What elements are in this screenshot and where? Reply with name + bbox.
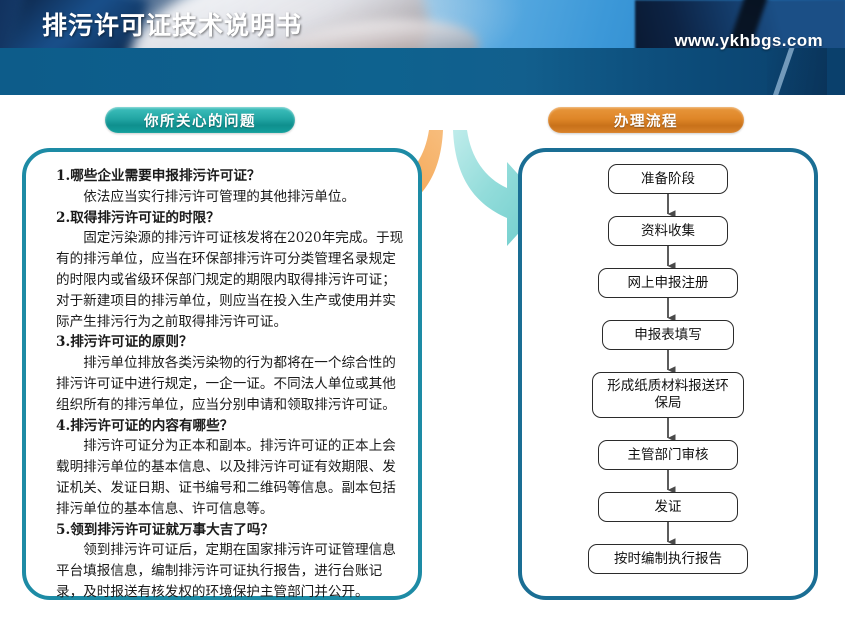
answer-1: 依法应当实行排污许可管理的其他排污单位。 [56, 187, 406, 208]
questions-body: 1.哪些企业需要申报排污许可证？ 依法应当实行排污许可管理的其他排污单位。 2.… [56, 166, 406, 603]
flow-step-2-label: 资料收集 [641, 223, 695, 240]
section-header-process: 办理流程 [548, 107, 744, 133]
flowchart: 准备阶段 资料收集 网上申报注册 申报表填写 形成纸质材料报送环保局 主管部门审… [522, 152, 814, 596]
flow-step-7-label: 发证 [655, 499, 682, 516]
flow-step-5[interactable]: 形成纸质材料报送环保局 [592, 372, 744, 418]
flow-step-4[interactable]: 申报表填写 [602, 320, 734, 350]
title-bar [0, 48, 845, 95]
answer-3: 排污单位排放各类污染物的行为都将在一个综合性的排污许可证中进行规定，一企一证。不… [56, 353, 406, 415]
answer-4: 排污许可证分为正本和副本。排污许可证的正本上会载明排污单位的基本信息、以及排污许… [56, 436, 406, 519]
flow-step-1-label: 准备阶段 [641, 171, 695, 188]
flow-step-5-label: 形成纸质材料报送环保局 [601, 378, 735, 412]
section-header-questions: 你所关心的问题 [105, 107, 295, 133]
question-4: 4.排污许可证的内容有哪些？ [56, 416, 406, 437]
flow-step-6[interactable]: 主管部门审核 [598, 440, 738, 470]
flow-step-6-label: 主管部门审核 [628, 447, 709, 464]
question-5: 5.领到排污许可证就万事大吉了吗？ [56, 520, 406, 541]
answer-2: 固定污染源的排污许可证核发将在2020年完成。于现有的排污单位，应当在环保部排污… [56, 228, 406, 332]
flow-step-4-label: 申报表填写 [634, 327, 702, 344]
question-2: 2.取得排污许可证的时限？ [56, 208, 406, 229]
page-title: 排污许可证技术说明书 [42, 6, 302, 42]
site-url-text: www.ykhbgs.com [674, 31, 823, 51]
process-flow-panel: 准备阶段 资料收集 网上申报注册 申报表填写 形成纸质材料报送环保局 主管部门审… [518, 148, 818, 600]
questions-panel: 1.哪些企业需要申报排污许可证？ 依法应当实行排污许可管理的其他排污单位。 2.… [22, 148, 422, 600]
question-1: 1.哪些企业需要申报排污许可证？ [56, 166, 406, 187]
flow-step-3-label: 网上申报注册 [628, 275, 709, 292]
flow-step-1[interactable]: 准备阶段 [608, 164, 728, 194]
answer-5: 领到排污许可证后，定期在国家排污许可证管理信息平台填报信息，编制排污许可证执行报… [56, 540, 406, 602]
flow-step-2[interactable]: 资料收集 [608, 216, 728, 246]
flow-step-7[interactable]: 发证 [598, 492, 738, 522]
flow-step-8-label: 按时编制执行报告 [614, 551, 722, 568]
flow-step-8[interactable]: 按时编制执行报告 [588, 544, 748, 574]
question-3: 3.排污许可证的原则？ [56, 332, 406, 353]
flow-step-3[interactable]: 网上申报注册 [598, 268, 738, 298]
